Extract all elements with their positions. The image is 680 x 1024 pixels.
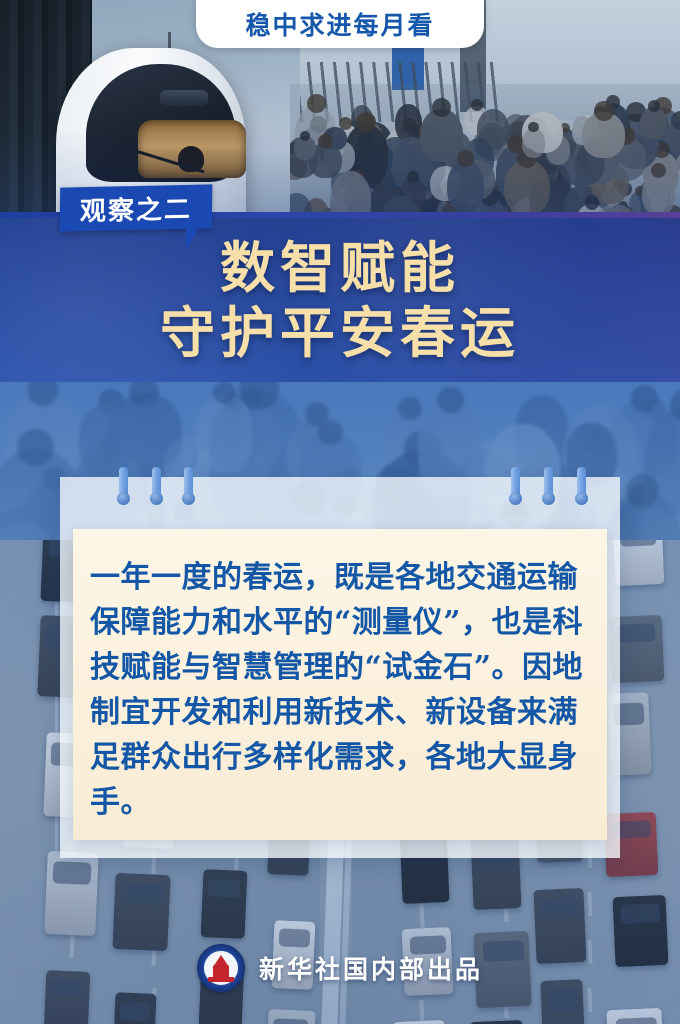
series-badge-label: 稳中求进每月看 (245, 6, 434, 42)
pin-ball (509, 492, 522, 505)
poster-title-line1: 数智赋能 (0, 236, 680, 301)
pin-ball (542, 492, 555, 505)
poster: 稳中求进每月看 数智赋能 守护平安春运 观察之二 一年一度的春运，既是各地交通运… (0, 0, 680, 1024)
observation-tag-tail (186, 229, 198, 251)
note-card-pin (150, 467, 163, 505)
pin-ball (575, 492, 588, 505)
note-card-pin (542, 467, 555, 505)
series-badge: 稳中求进每月看 (196, 0, 484, 48)
note-card-pin (575, 467, 588, 505)
observation-tag-label: 观察之二 (60, 184, 213, 231)
poster-title-line2: 守护平安春运 (0, 301, 680, 366)
footer-label: 新华社国内部出品 (259, 950, 483, 986)
note-card-pin (117, 467, 130, 505)
pin-ball (117, 492, 130, 505)
note-card-pin (182, 467, 195, 505)
note-card-inner: 一年一度的春运，既是各地交通运输保障能力和水平的“测量仪”，也是科技赋能与智慧管… (73, 529, 607, 840)
pin-ball (150, 492, 163, 505)
poster-title: 数智赋能 守护平安春运 (0, 236, 680, 366)
pin-ball (182, 492, 195, 505)
emblem-base (208, 977, 234, 982)
note-card-paragraph: 一年一度的春运，既是各地交通运输保障能力和水平的“测量仪”，也是科技赋能与智慧管… (90, 555, 593, 825)
footer: 新华社国内部出品 (0, 940, 680, 996)
xinhua-emblem-icon (197, 944, 245, 992)
observation-tag: 观察之二 (60, 184, 213, 231)
note-card-pin (509, 467, 522, 505)
title-band: 数智赋能 守护平安春运 (0, 212, 680, 382)
